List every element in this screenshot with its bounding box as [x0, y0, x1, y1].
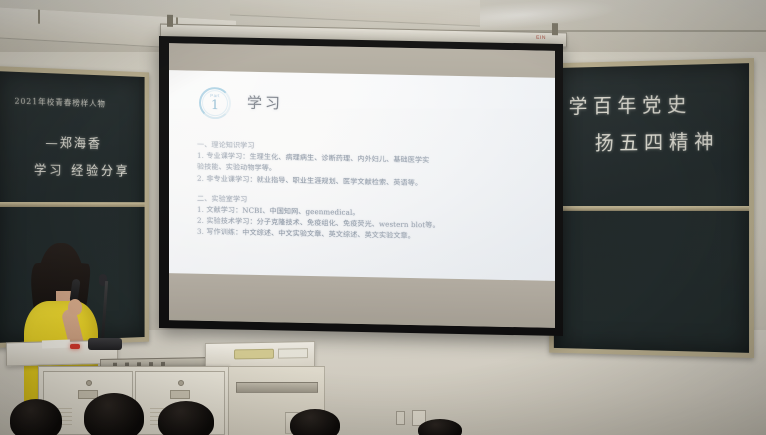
- slide-title: 学习: [247, 92, 283, 114]
- audience-head: [290, 409, 340, 435]
- slide-body: 一、理论知识学习 1. 专业课学习：生理生化、病理病生、诊断药理、内外妇儿、基础…: [197, 139, 537, 244]
- cabinet-knob-left: [86, 380, 92, 386]
- blackboard-right-line-2: 扬五四精神: [595, 126, 720, 156]
- projection-screen: Part 1 学习 一、理论知识学习 1. 专业课学习：生理生化、病理病生、诊断…: [159, 36, 563, 336]
- blackboard-right-divider: [554, 206, 749, 211]
- screen-letterbox-bottom: [169, 273, 555, 328]
- part-number: 1: [199, 99, 231, 113]
- side-cabinet-shelf-rail: [236, 382, 318, 393]
- lectern-cutout-white: [278, 348, 308, 359]
- lectern-surface-right: [205, 341, 315, 369]
- audience-head: [10, 399, 62, 435]
- audience-head: [418, 419, 462, 435]
- wall-socket-small: [396, 411, 405, 425]
- cabinet-knob-right: [178, 380, 184, 386]
- blackboard-left-line-3: 学习 经验分享: [34, 160, 130, 180]
- roller-brand-label: EIN: [536, 35, 546, 41]
- blackboard-right-line-1: 学百年党史: [569, 88, 692, 119]
- paper-notes: [42, 340, 70, 349]
- blackboard-right: 学百年党史 扬五四精神: [549, 58, 754, 358]
- cabinet-handle-right: [170, 390, 190, 399]
- classroom-photo: 2021年校青春榜样人物 —郑海香 学习 经验分享 学百年党史 扬五四精神 EI…: [0, 0, 766, 435]
- laser-pointer: [70, 344, 80, 349]
- gooseneck-mic-base: [88, 338, 122, 350]
- screen-surface: Part 1 学习 一、理论知识学习 1. 专业课学习：生理生化、病理病生、诊断…: [169, 43, 555, 328]
- blackboard-left-divider: [0, 202, 145, 207]
- audience-head: [158, 401, 214, 435]
- audience-head: [84, 393, 144, 435]
- hand: [68, 299, 82, 315]
- blackboard-left-line-2: —郑海香: [45, 132, 101, 152]
- lectern-cutout-yellow: [234, 349, 274, 360]
- part-badge: Part 1: [199, 87, 231, 120]
- presentation-slide: Part 1 学习 一、理论知识学习 1. 专业课学习：生理生化、病理病生、诊断…: [169, 70, 555, 281]
- blackboard-left-line-1: 2021年校青春榜样人物: [15, 96, 106, 110]
